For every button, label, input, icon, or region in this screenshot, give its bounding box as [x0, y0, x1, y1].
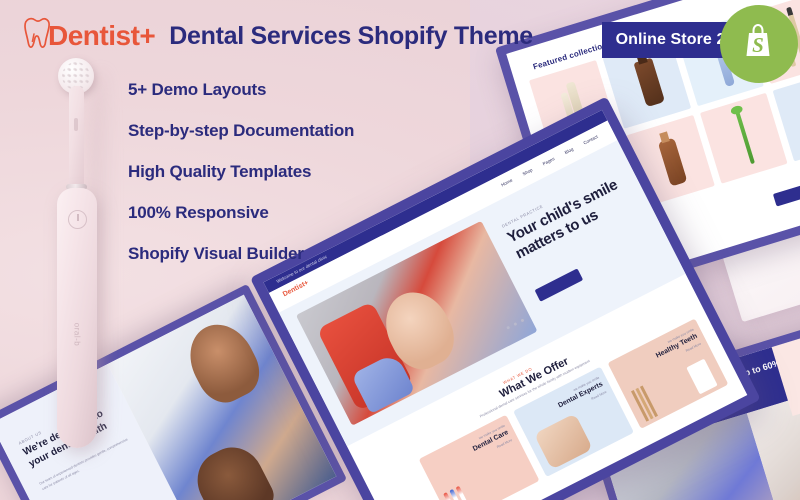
toothbrush-neck [69, 86, 84, 186]
toothbrush-brand: oral-b [73, 322, 82, 348]
power-button-icon [68, 210, 87, 229]
offer-card[interactable]: we make you smile Healthy Teeth Read Mor… [608, 318, 729, 428]
patient-figure [187, 437, 278, 500]
feature-item: Shopify Visual Builder [128, 244, 354, 264]
shopify-logo-circle: S [720, 5, 798, 83]
feature-item: 5+ Demo Layouts [128, 80, 354, 100]
feature-item: High Quality Templates [128, 162, 354, 182]
collection-view-all-button[interactable] [773, 178, 800, 206]
feature-item: 100% Responsive [128, 203, 354, 223]
toothbrush-body: oral-b [57, 188, 97, 448]
svg-text:S: S [752, 33, 764, 57]
product-tile [699, 93, 787, 184]
online-store-badge-group: Online Store 2.0 S [602, 22, 755, 58]
page-title: Dental Services Shopify Theme [169, 24, 533, 49]
feature-list: 5+ Demo LayoutsStep-by-step Documentatio… [128, 80, 354, 285]
dentist-figure [178, 313, 269, 411]
brand-logo: Dentist+ [14, 14, 155, 58]
header: Dentist+ Dental Services Shopify Theme [14, 14, 533, 58]
feature-item: Step-by-step Documentation [128, 121, 354, 141]
shopify-bag-icon: S [736, 19, 782, 70]
logo-text: Dentist+ [48, 22, 155, 50]
hero-cta-button[interactable] [535, 268, 584, 301]
